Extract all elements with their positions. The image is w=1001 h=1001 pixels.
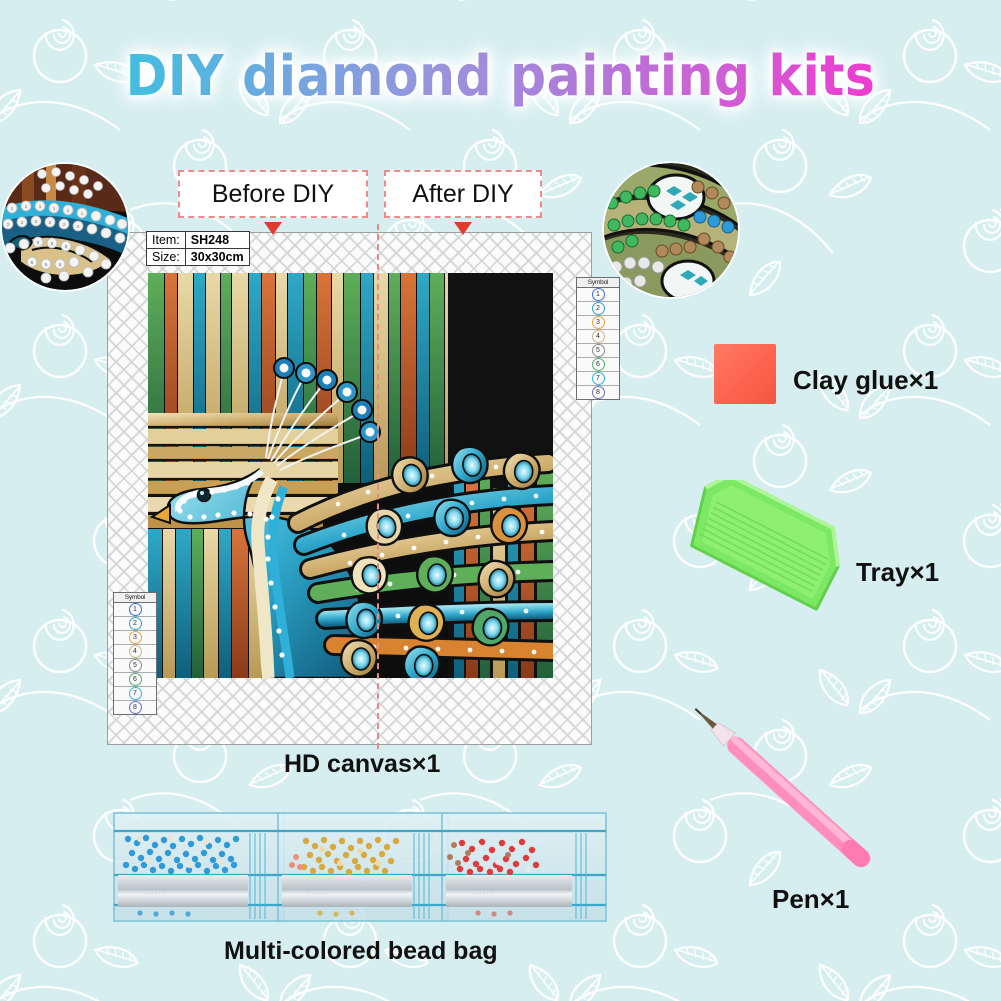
symbol-2: 2	[129, 617, 142, 630]
legend-row: 3	[114, 631, 156, 645]
symbol-7: 7	[129, 687, 142, 700]
legend-row: 2	[577, 302, 619, 316]
bead-bag-label: Multi-colored bead bag	[224, 937, 498, 966]
info-size-key: Size:	[147, 249, 186, 266]
pen-label: Pen×1	[772, 884, 849, 915]
legend-row: 4	[114, 645, 156, 659]
legend-row: 7	[114, 687, 156, 701]
legend-row: 3	[577, 316, 619, 330]
legend-row: 8	[577, 386, 619, 399]
hd-canvas-label: HD canvas×1	[284, 750, 440, 779]
symbol-4: 4	[129, 645, 142, 658]
legend-row: 6	[114, 673, 156, 687]
symbol-legend-right: Symbol 1 2 3 4 5 6 7 8	[576, 277, 620, 400]
symbol-6: 6	[129, 673, 142, 686]
symbol-1: 1	[129, 603, 142, 616]
pen-item	[660, 700, 930, 900]
symbol-legend-header: Symbol	[114, 593, 156, 603]
legend-row: 1	[577, 288, 619, 302]
symbol-7: 7	[592, 372, 605, 385]
product-info-table: Item: SH248 Size: 30x30cm	[146, 231, 250, 266]
symbol-5: 5	[592, 344, 605, 357]
svg-text:- - - - - -: - - - - - -	[144, 891, 164, 897]
legend-row: 6	[577, 358, 619, 372]
symbol-5: 5	[129, 659, 142, 672]
symbol-8: 8	[592, 386, 605, 399]
clay-glue-item	[714, 344, 776, 404]
symbol-2: 2	[592, 302, 605, 315]
symbol-legend-header: Symbol	[577, 278, 619, 288]
symbol-legend-left: Symbol 1 2 3 4 5 6 7 8	[113, 592, 157, 715]
hd-canvas-product	[107, 232, 592, 745]
symbol-6: 6	[592, 358, 605, 371]
before-diy-closeup-inset: 111 111 222 222 555 555	[2, 164, 128, 290]
arrow-after-icon	[454, 222, 472, 235]
clay-glue-label: Clay glue×1	[793, 365, 938, 396]
page-title: DIY diamond painting kits	[0, 44, 1001, 109]
tray-item	[660, 480, 850, 640]
legend-row: 4	[577, 330, 619, 344]
bead-bag-item: - - - - - -- - - - - - - - - - - -	[110, 805, 610, 927]
tag-after-diy-label: After DIY	[412, 180, 513, 209]
symbol-1: 1	[592, 288, 605, 301]
legend-row: 7	[577, 372, 619, 386]
info-row-size: Size: 30x30cm	[147, 249, 250, 266]
tag-after-diy: After DIY	[384, 170, 542, 218]
info-size-value: 30x30cm	[185, 249, 249, 266]
before-after-divider	[377, 224, 379, 749]
tag-before-diy: Before DIY	[178, 170, 368, 218]
legend-row: 8	[114, 701, 156, 714]
after-diy-closeup-inset	[604, 163, 738, 297]
info-row-item: Item: SH248	[147, 232, 250, 249]
symbol-3: 3	[592, 316, 605, 329]
symbol-4: 4	[592, 330, 605, 343]
legend-row: 5	[114, 659, 156, 673]
tray-label: Tray×1	[856, 557, 939, 588]
legend-row: 2	[114, 617, 156, 631]
peacock-artwork	[148, 273, 553, 678]
arrow-before-icon	[264, 222, 282, 235]
info-item-key: Item:	[147, 232, 186, 249]
legend-row: 5	[577, 344, 619, 358]
symbol-3: 3	[129, 631, 142, 644]
infographic-page: DIY diamond painting kits Before DIY Aft…	[0, 0, 1001, 1001]
tag-before-diy-label: Before DIY	[212, 180, 334, 209]
info-item-value: SH248	[185, 232, 249, 249]
svg-text:- - - - - -: - - - - - -	[308, 891, 328, 897]
symbol-8: 8	[129, 701, 142, 714]
legend-row: 1	[114, 603, 156, 617]
svg-text:- - - - - -: - - - - - -	[472, 891, 492, 897]
